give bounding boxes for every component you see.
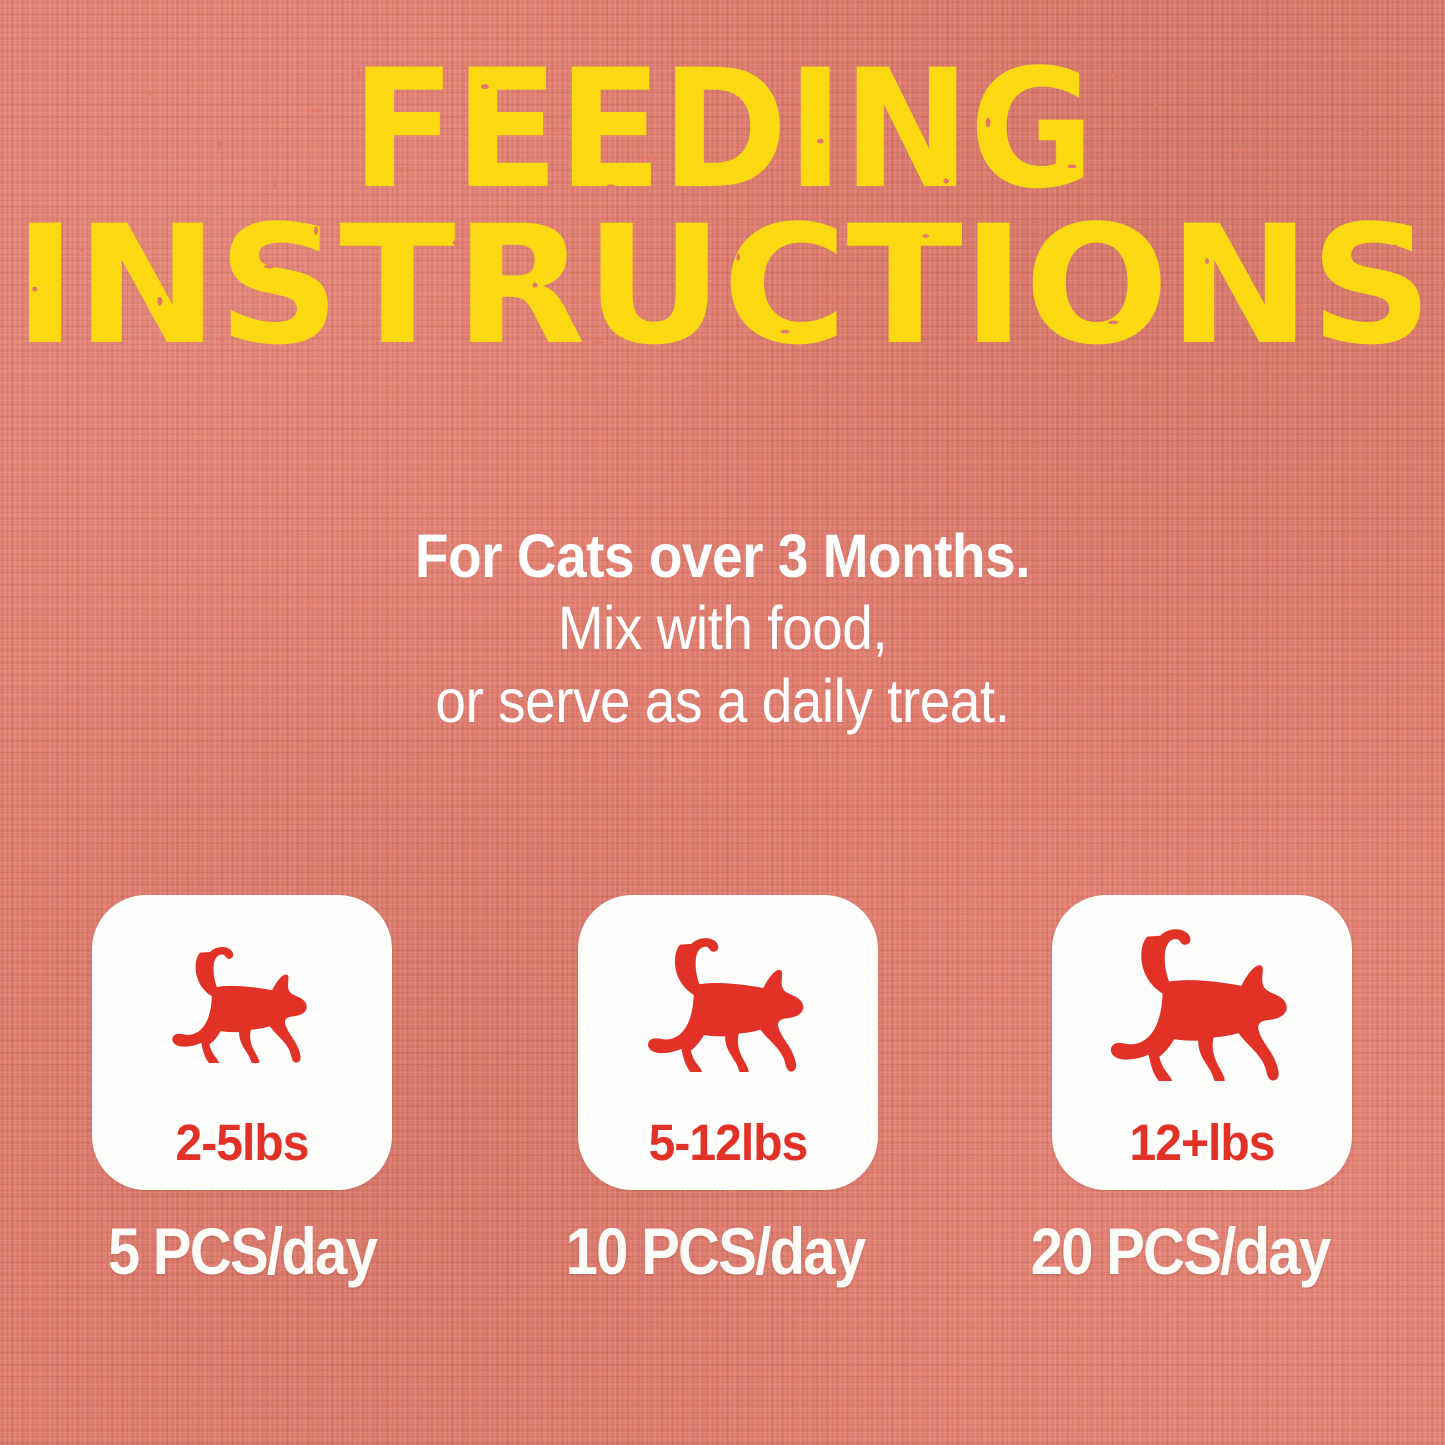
page-title: FEEDING INSTRUCTIONS xyxy=(0,58,1445,359)
subtitle-line-2: Mix with food, xyxy=(72,594,1373,662)
poster-content: FEEDING INSTRUCTIONS For Cats over 3 Mon… xyxy=(0,0,1445,1445)
weight-card-small[interactable]: 2-5lbs xyxy=(92,895,392,1190)
dose-label-row: 5 PCS/day 10 PCS/day 20 PCS/day xyxy=(0,1218,1445,1308)
weight-card-large[interactable]: 12+lbs xyxy=(1052,895,1352,1190)
weight-card-medium[interactable]: 5-12lbs xyxy=(578,895,878,1190)
dose-label-large: 20 PCS/day xyxy=(1030,1218,1329,1284)
feeding-instructions-poster: FEEDING INSTRUCTIONS For Cats over 3 Mon… xyxy=(0,0,1445,1445)
weight-card-row: 2-5lbs 5-12lbs 12+lbs xyxy=(92,895,1352,1190)
cat-icon-wrap-small xyxy=(92,895,392,1113)
dose-label-small: 5 PCS/day xyxy=(92,1218,391,1284)
cat-silhouette-icon xyxy=(168,946,316,1063)
dose-label-medium: 10 PCS/day xyxy=(565,1218,864,1284)
feeding-subtitle: For Cats over 3 Months. Mix with food, o… xyxy=(0,522,1445,735)
subtitle-line-1: For Cats over 3 Months. xyxy=(72,522,1373,590)
weight-label: 5-12lbs xyxy=(587,1117,869,1168)
weight-label: 12+lbs xyxy=(1061,1117,1343,1168)
cat-silhouette-icon xyxy=(643,937,814,1072)
page-title-line-2: INSTRUCTIONS xyxy=(0,214,1445,358)
cat-icon-wrap-large xyxy=(1052,895,1352,1113)
page-title-line-1: FEEDING xyxy=(51,58,1395,202)
cat-icon-wrap-medium xyxy=(578,895,878,1113)
weight-label: 2-5lbs xyxy=(101,1117,383,1168)
subtitle-line-3: or serve as a daily treat. xyxy=(72,667,1373,735)
cat-silhouette-icon xyxy=(1105,928,1299,1081)
